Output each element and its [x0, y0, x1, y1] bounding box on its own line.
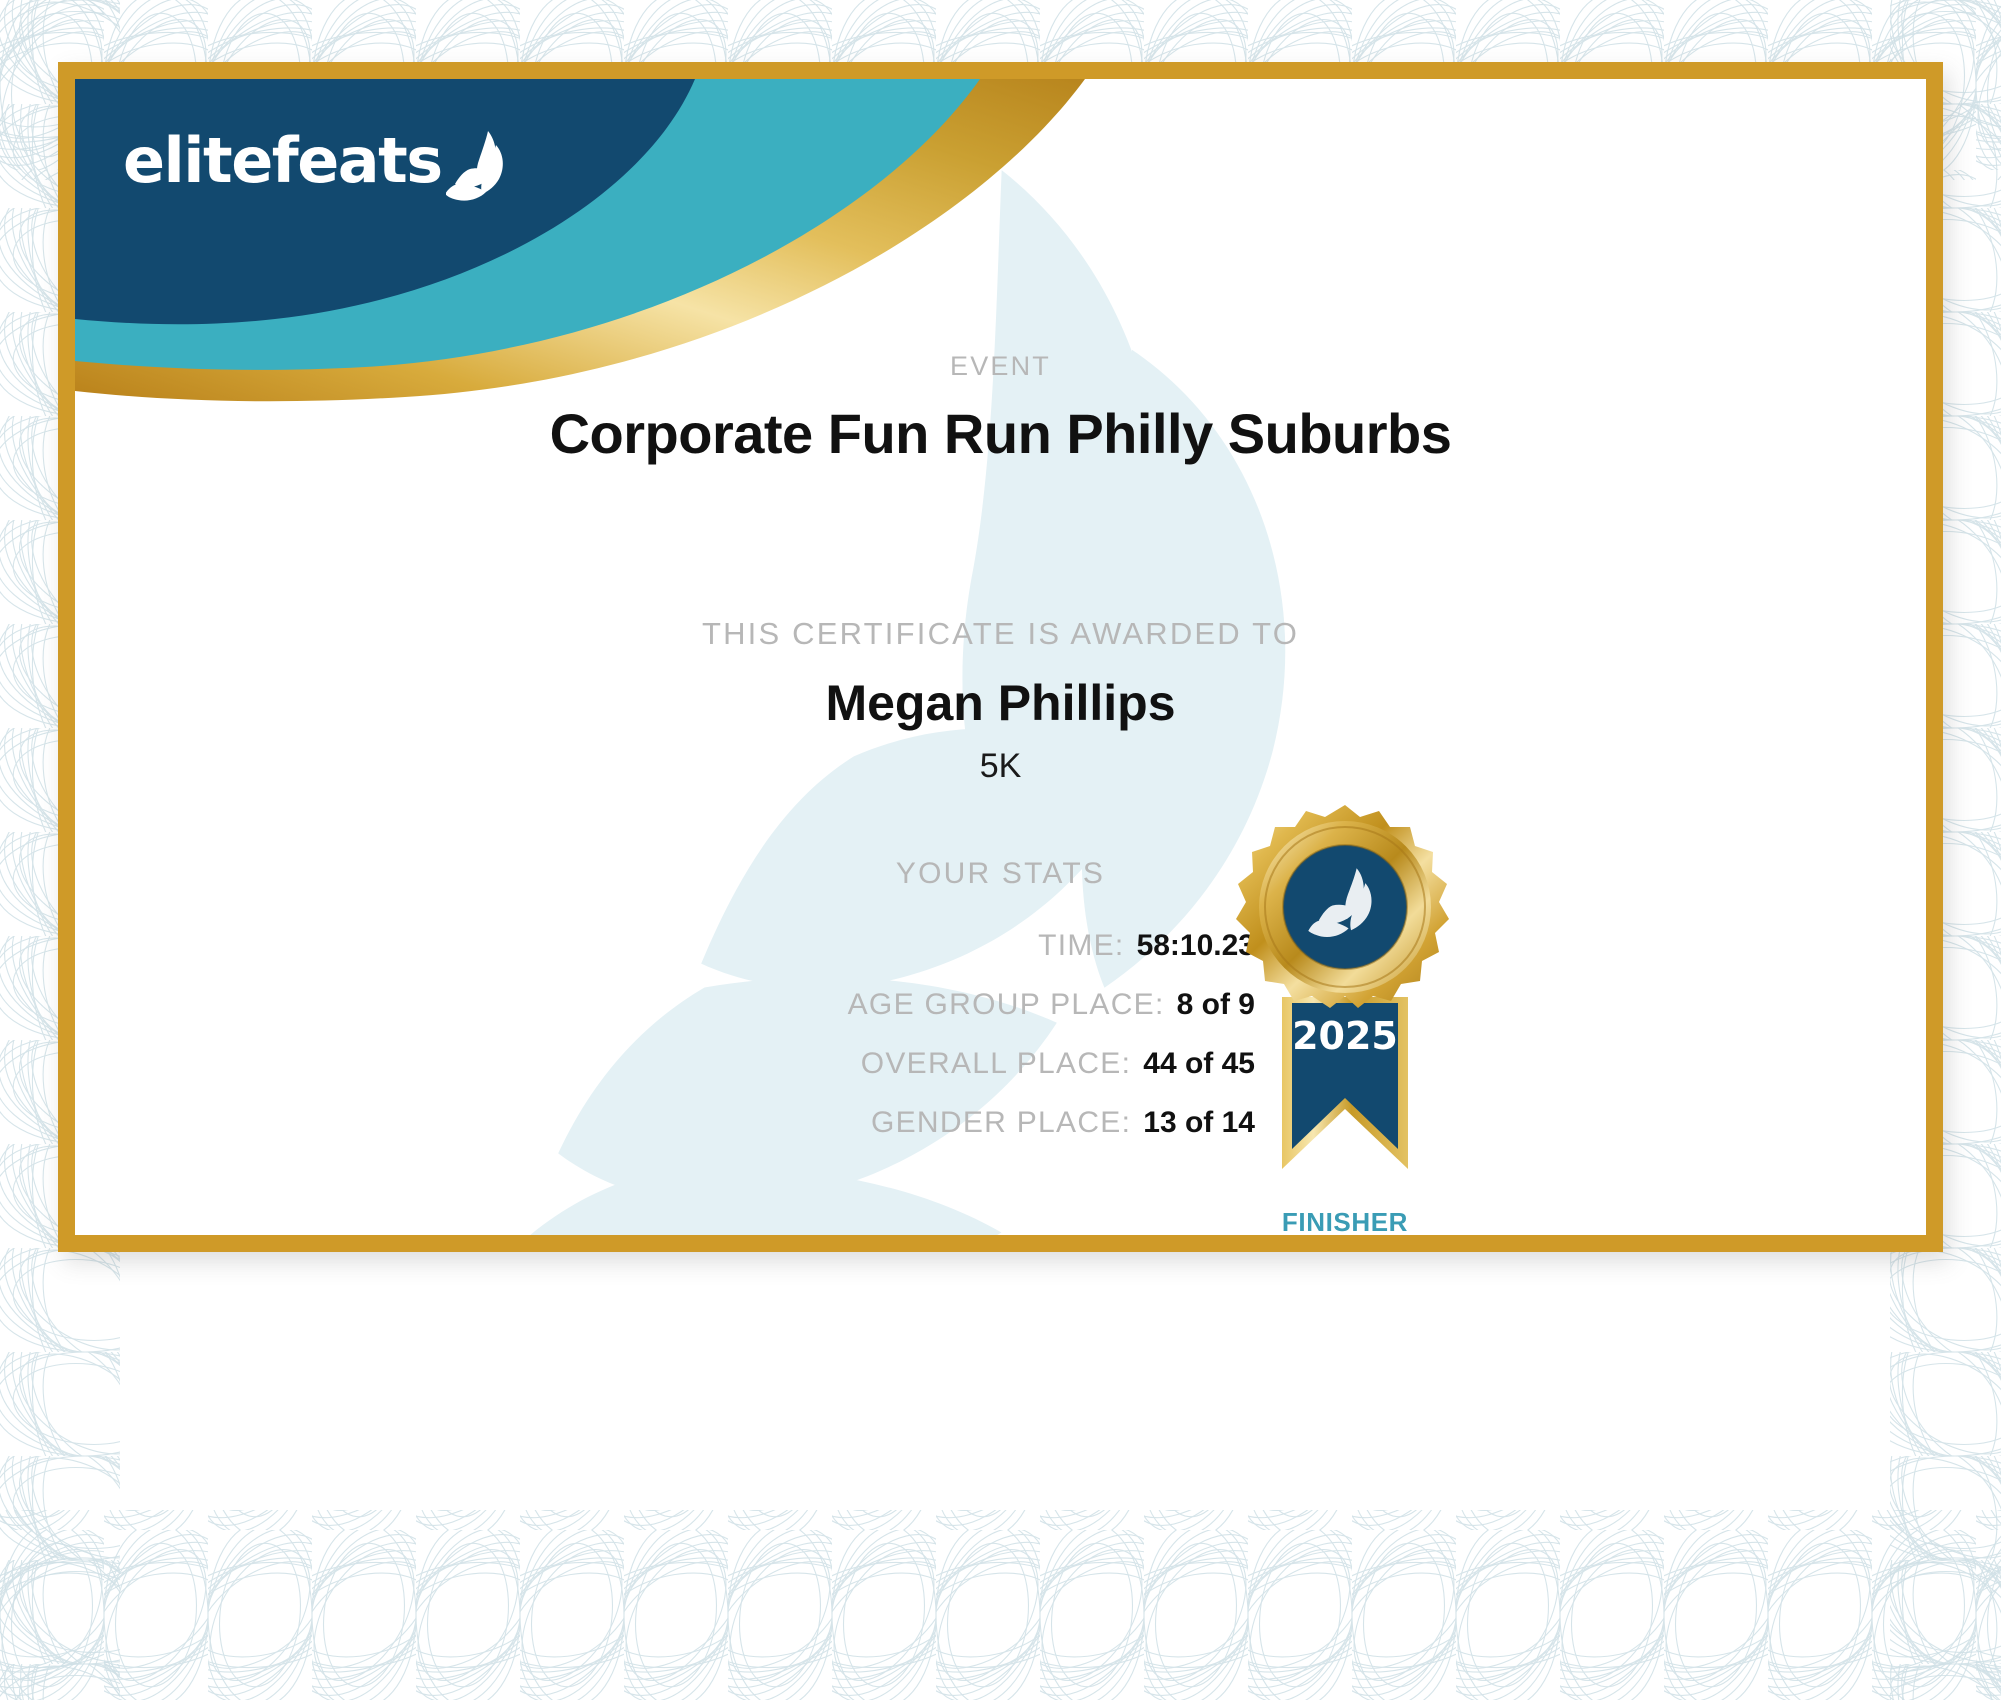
stat-row: OVERALL PLACE: 44 of 45: [375, 1047, 1255, 1081]
stats-list: TIME: 58:10.23 AGE GROUP PLACE: 8 of 9 O…: [375, 929, 1255, 1165]
certificate-page: elitefeats EVENT Corporate Fun Run: [0, 0, 2001, 1700]
badge-year: 2025: [1292, 1014, 1398, 1058]
awarded-to-label: THIS CERTIFICATE IS AWARDED TO: [75, 616, 1926, 652]
race-distance: 5K: [75, 747, 1926, 786]
stat-key-age-group-place: AGE GROUP PLACE:: [848, 988, 1165, 1022]
gold-border-frame: elitefeats EVENT Corporate Fun Run: [58, 62, 1943, 1252]
medal-graphic: 2025: [1220, 797, 1470, 1197]
certificate-body: elitefeats EVENT Corporate Fun Run: [75, 79, 1926, 1235]
medallion: [1236, 805, 1449, 1008]
event-title: Corporate Fun Run Philly Suburbs: [75, 401, 1926, 466]
your-stats-label: YOUR STATS: [75, 857, 1926, 891]
stat-row: GENDER PLACE: 13 of 14: [375, 1106, 1255, 1140]
stat-row: TIME: 58:10.23: [375, 929, 1255, 963]
stat-row: AGE GROUP PLACE: 8 of 9: [375, 988, 1255, 1022]
recipient-name: Megan Phillips: [75, 674, 1926, 732]
certificate-content: EVENT Corporate Fun Run Philly Suburbs T…: [75, 79, 1926, 1235]
badge-caption-line1: FINISHER: [1215, 1208, 1475, 1235]
event-label: EVENT: [75, 351, 1926, 382]
finisher-badge: 2025 FINISHER CERTIFICATE: [1215, 797, 1475, 1235]
badge-caption: FINISHER CERTIFICATE: [1215, 1208, 1475, 1235]
stat-key-gender-place: GENDER PLACE:: [871, 1106, 1131, 1140]
stat-key-overall-place: OVERALL PLACE:: [861, 1047, 1132, 1081]
stat-key-time: TIME:: [1038, 929, 1125, 963]
